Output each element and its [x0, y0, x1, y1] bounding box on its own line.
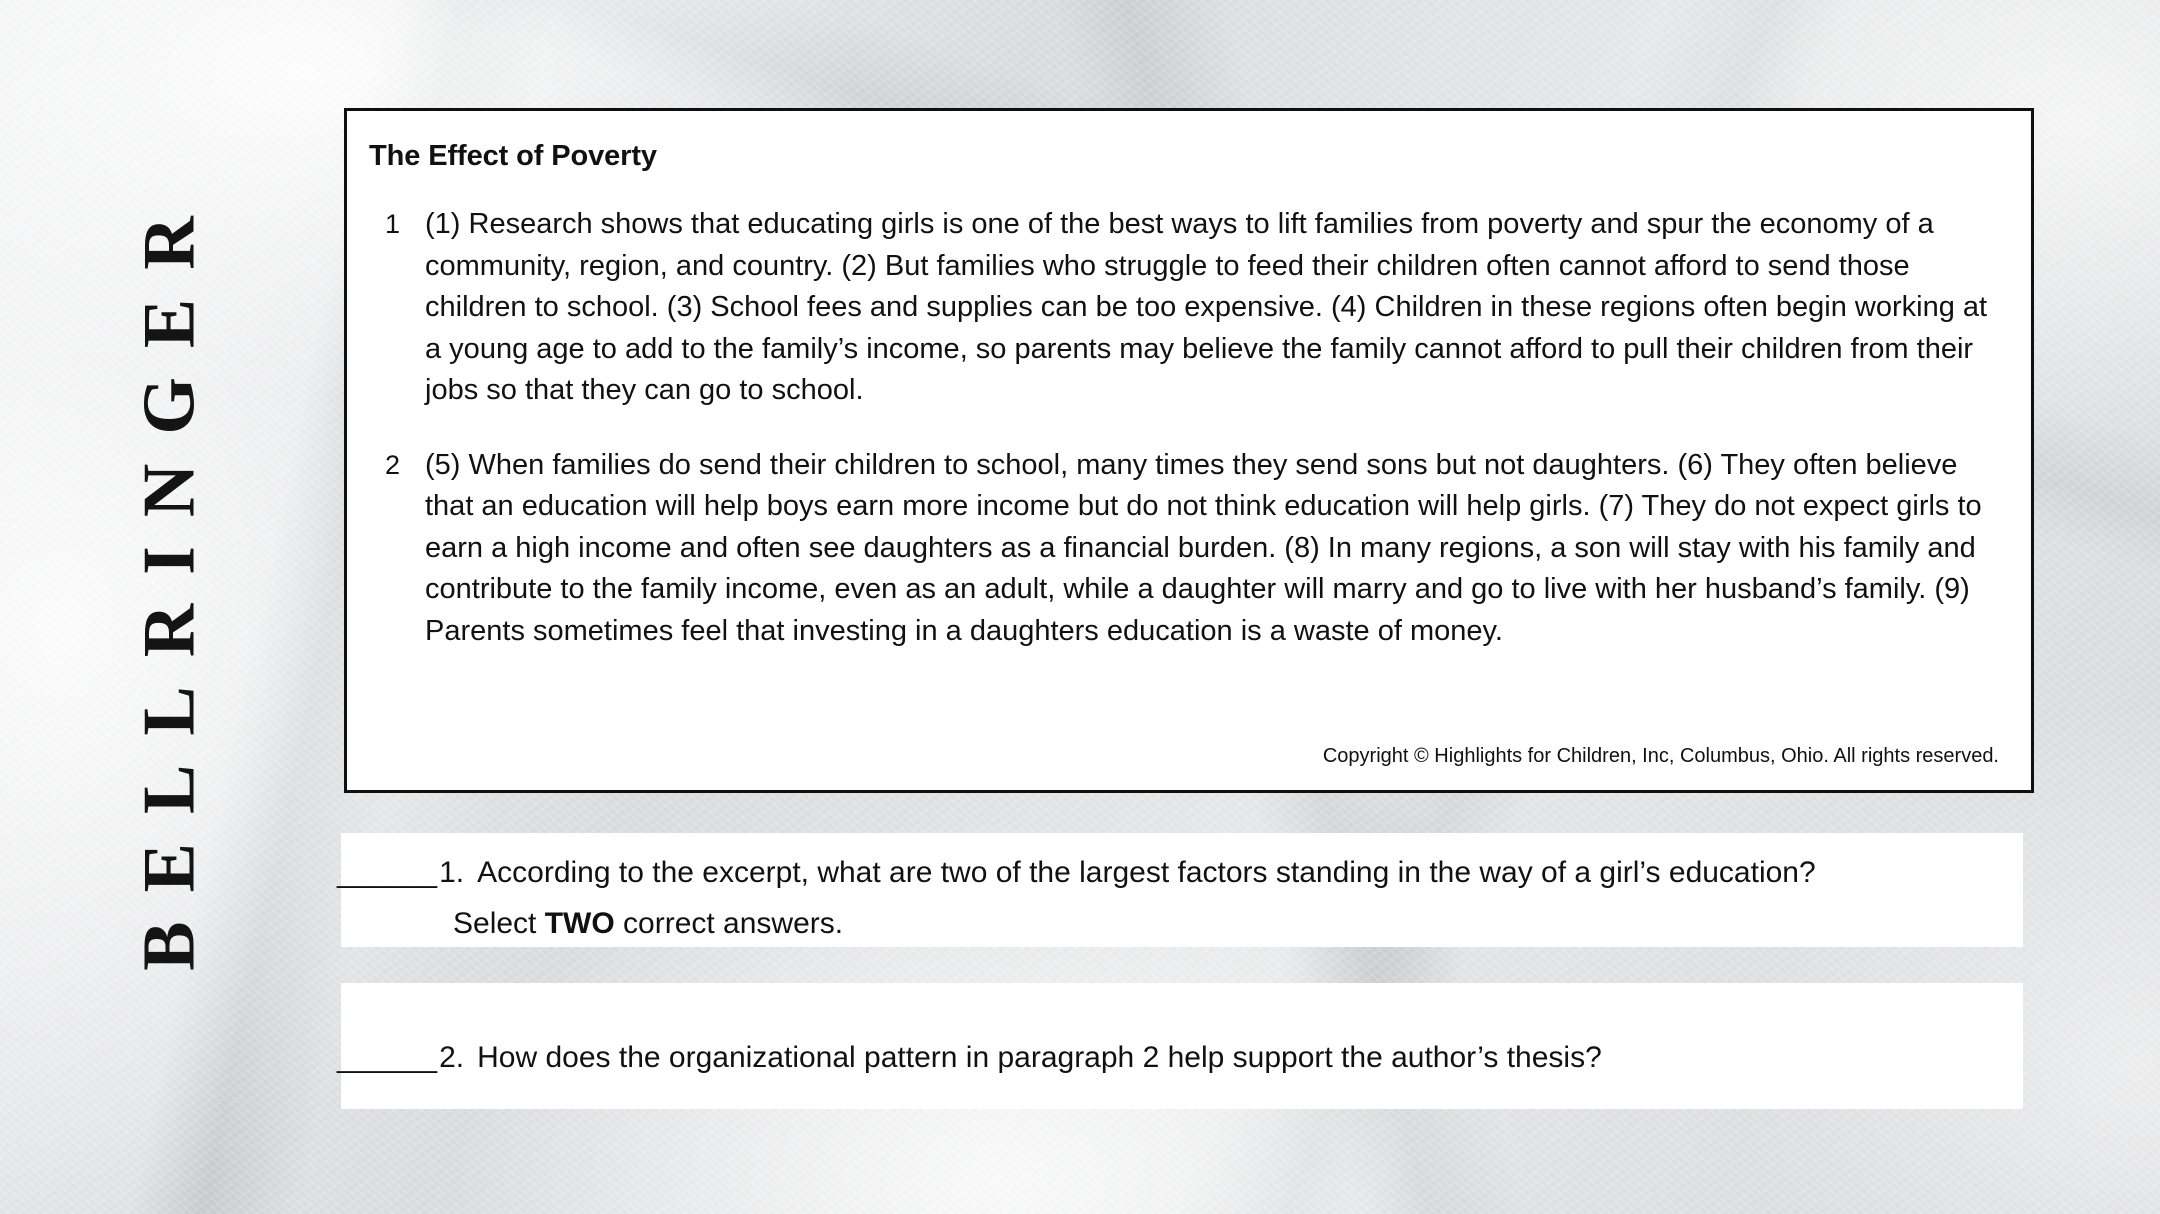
paragraph-number-1: 1: [369, 204, 425, 412]
excerpt-title: The Effect of Poverty: [369, 140, 2031, 173]
question-card-1: ______ 1. According to the excerpt, what…: [341, 833, 2023, 947]
question-1-prompt: ______ 1. According to the excerpt, what…: [337, 833, 2023, 891]
bellringer-title-text: BELLRINGER: [128, 187, 213, 999]
excerpt-card: The Effect of Poverty 1 (1) Research sho…: [344, 108, 2034, 793]
excerpt-paragraph-2: 2 (5) When families do send their childr…: [369, 445, 1995, 653]
question-1-instruction: Select TWO correct answers.: [341, 891, 2023, 942]
question-1-text: According to the excerpt, what are two o…: [464, 855, 1816, 891]
question-2-answer-blank[interactable]: ______: [337, 1040, 437, 1076]
excerpt-paragraph-1: 1 (1) Research shows that educating girl…: [369, 204, 1995, 412]
paragraph-text-2: (5) When families do send their children…: [425, 445, 1995, 653]
question-1-answer-blank[interactable]: ______: [337, 855, 437, 891]
paragraph-text-1: (1) Research shows that educating girls …: [425, 204, 1995, 412]
question-card-2: ______ 2. How does the organizational pa…: [341, 983, 2023, 1109]
bellringer-title: BELLRINGER: [95, 128, 245, 1058]
paragraph-number-2: 2: [369, 445, 425, 653]
slide-canvas: BELLRINGER The Effect of Poverty 1 (1) R…: [0, 0, 2160, 1214]
question-1-instruction-prefix: Select: [453, 907, 545, 940]
question-2-number: 2.: [437, 1040, 464, 1076]
question-2-text: How does the organizational pattern in p…: [464, 1040, 1602, 1076]
copyright-notice: Copyright © Highlights for Children, Inc…: [1323, 745, 1999, 768]
question-1-number: 1.: [437, 855, 464, 891]
question-2-prompt: ______ 2. How does the organizational pa…: [337, 983, 2023, 1076]
question-1-instruction-suffix: correct answers.: [615, 907, 843, 940]
question-1-instruction-emphasis: TWO: [545, 907, 615, 940]
